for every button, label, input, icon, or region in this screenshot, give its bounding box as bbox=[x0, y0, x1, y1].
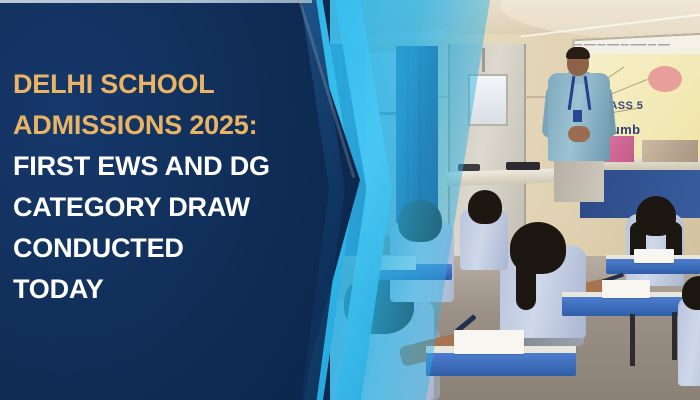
desk bbox=[426, 352, 576, 376]
notebook bbox=[634, 249, 674, 263]
desk-leg bbox=[672, 312, 677, 360]
door-window bbox=[468, 74, 508, 126]
teacher-id-badge bbox=[573, 110, 582, 122]
whiteboard-handwriting: ▁▁ ▁▁▁ ▁▁ ▁▁▁ ▁▁ ▁▁▁▁ ▁▁ ▁▁▁ bbox=[574, 40, 700, 52]
stu-hair bbox=[468, 190, 502, 224]
desk-object-small bbox=[458, 164, 480, 171]
notebook bbox=[454, 330, 524, 354]
top-light-strip bbox=[0, 0, 312, 3]
teacher-hair bbox=[566, 47, 590, 59]
stu-hair-braid bbox=[516, 252, 536, 310]
headline-line-4: CATEGORY DRAW bbox=[13, 187, 313, 228]
headline-line-6: TODAY bbox=[13, 269, 313, 310]
desk bbox=[562, 296, 682, 316]
desk-leg bbox=[630, 314, 635, 366]
headline-line-1: DELHI SCHOOL bbox=[13, 64, 313, 105]
headline-line-2: ADMISSIONS 2025: bbox=[13, 105, 313, 146]
headline: DELHI SCHOOL ADMISSIONS 2025: FIRST EWS … bbox=[13, 64, 313, 310]
headline-line-5: CONDUCTED bbox=[13, 228, 313, 269]
teacher-hands bbox=[568, 126, 590, 142]
slide-red-ellipse bbox=[648, 66, 682, 92]
desk-object-remote bbox=[506, 162, 540, 170]
teacher-trousers bbox=[554, 156, 604, 202]
stu-hair bbox=[398, 200, 442, 242]
notebook bbox=[602, 280, 650, 298]
door-strip bbox=[482, 48, 485, 72]
news-banner: ▁▁ ▁▁▁ ▁▁ ▁▁▁ ▁▁ ▁▁▁▁ ▁▁ ▁▁▁ CLASS 5 Num… bbox=[0, 0, 700, 400]
cabinet-items bbox=[642, 140, 698, 162]
headline-line-3: FIRST EWS AND DG bbox=[13, 146, 313, 187]
